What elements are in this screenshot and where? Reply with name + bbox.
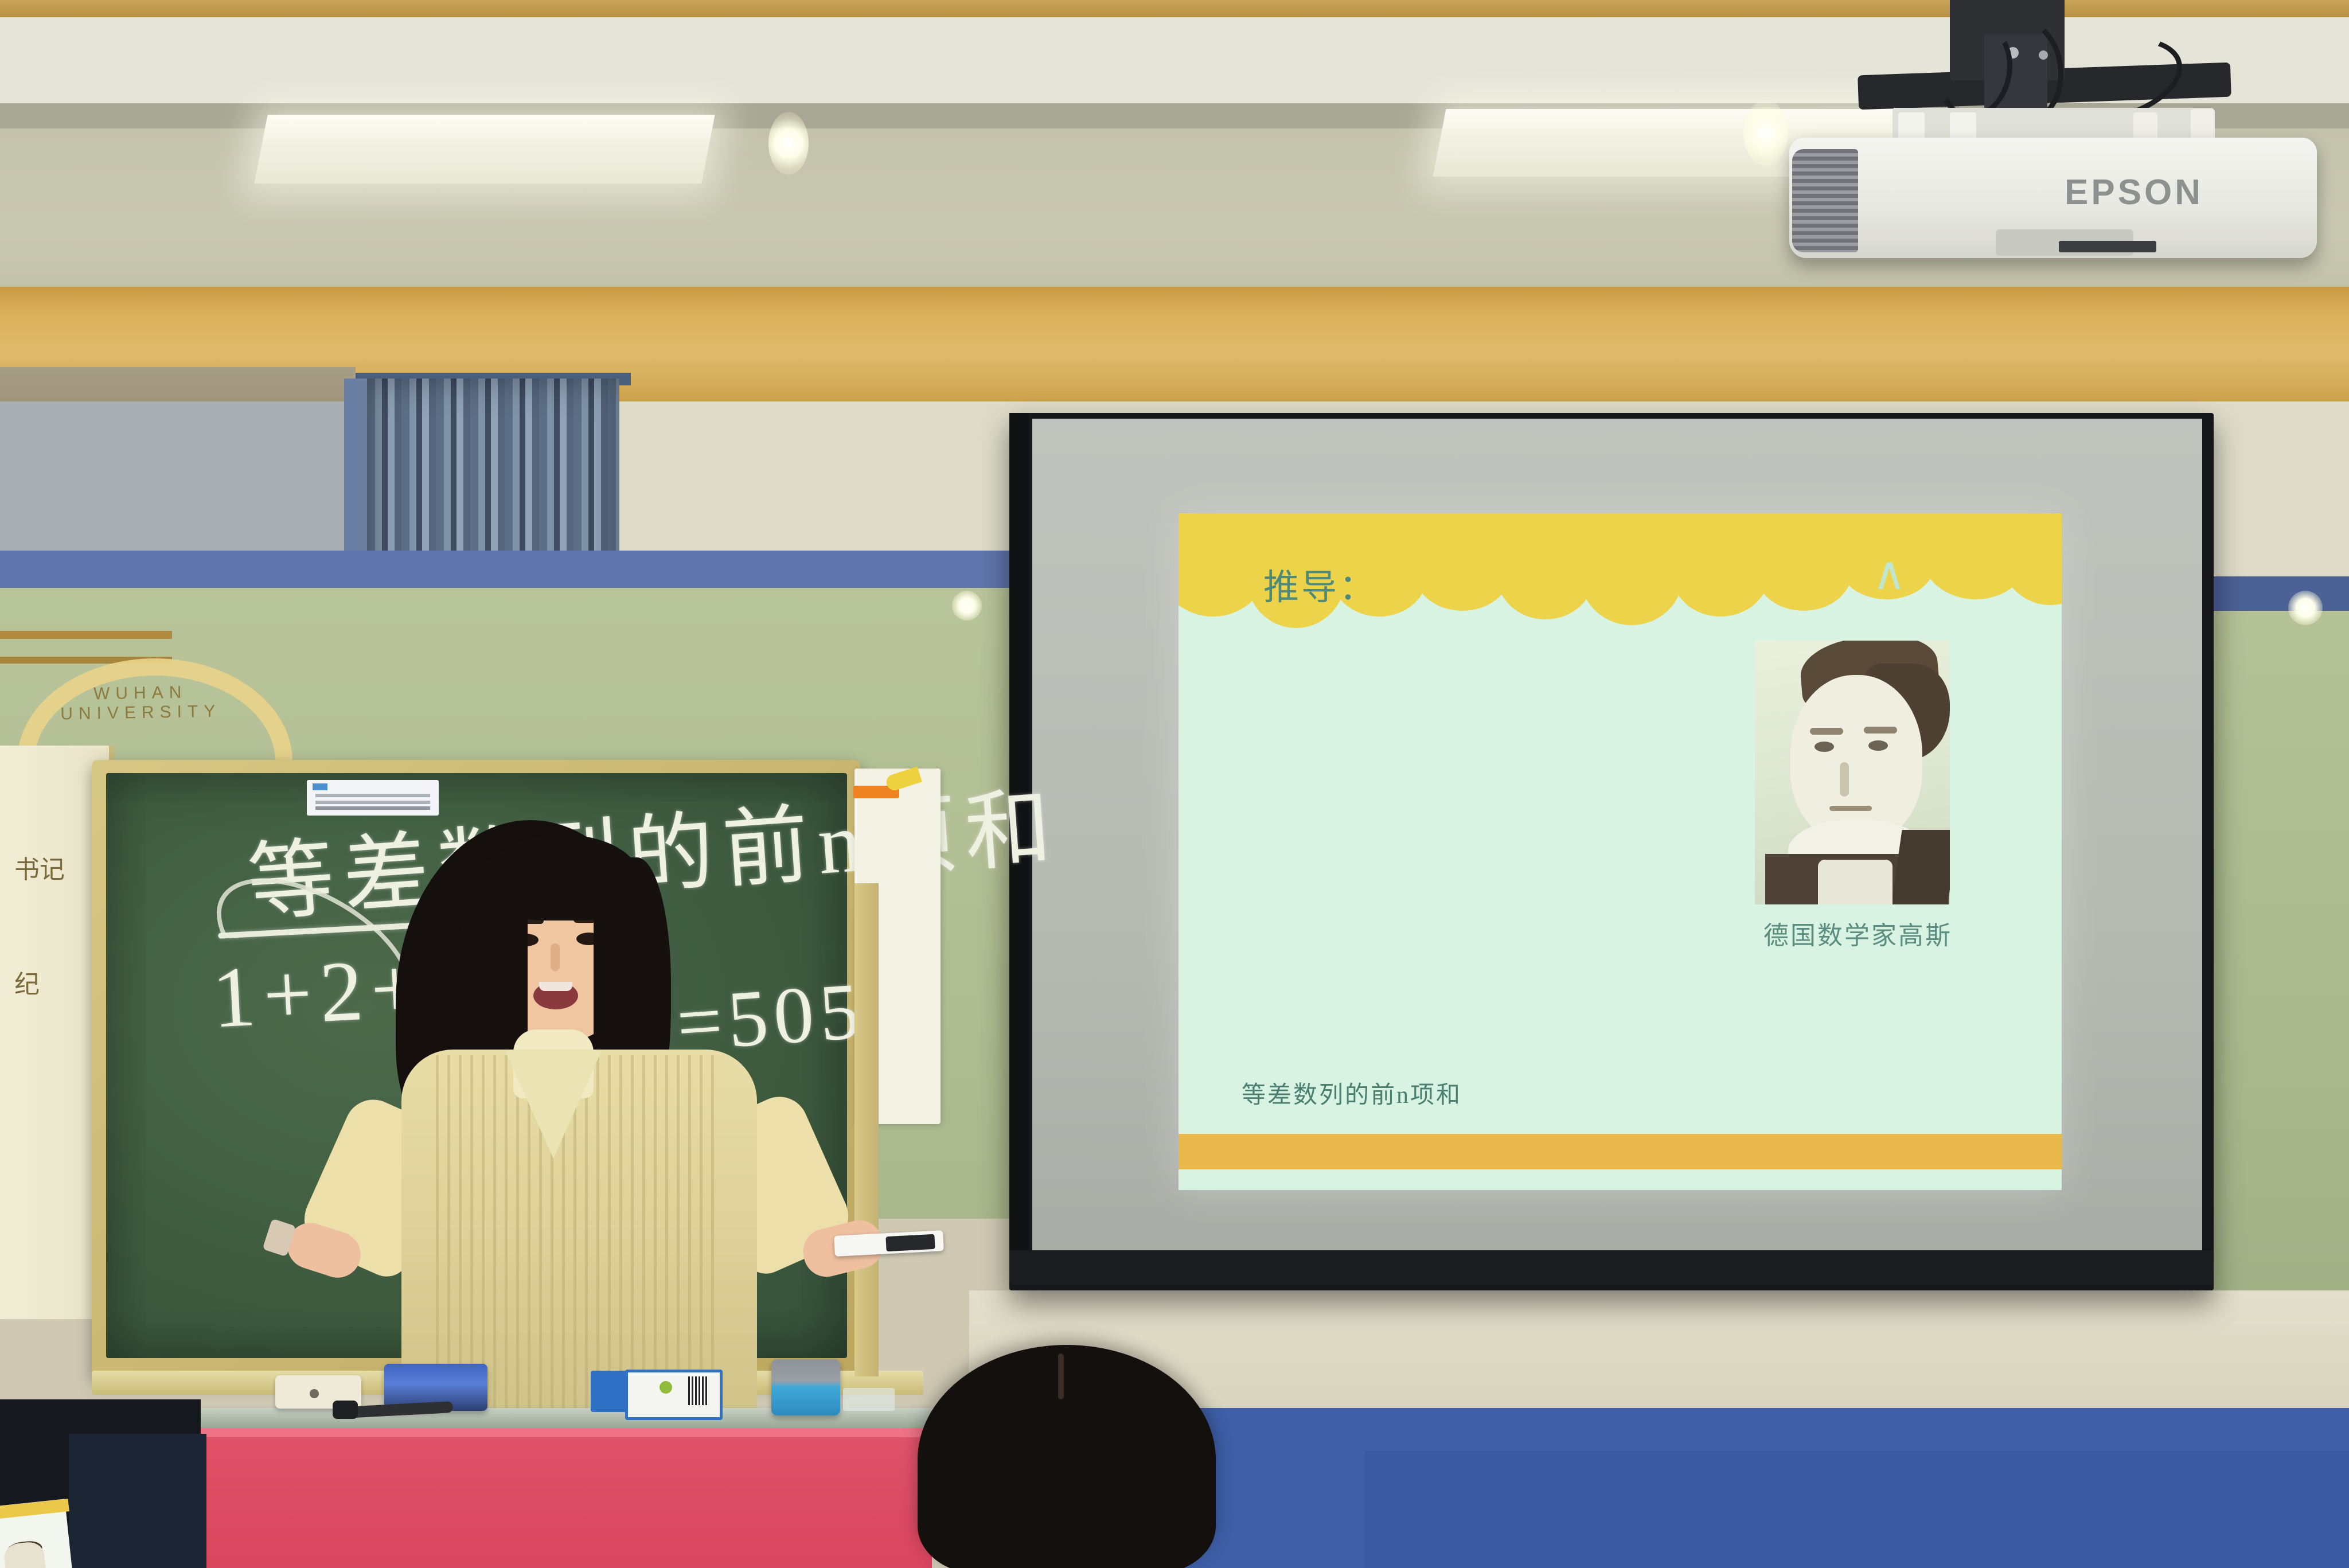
gauss-face	[1790, 675, 1922, 841]
gauss-shirt	[1818, 860, 1893, 904]
student-head-foreground	[918, 1345, 1216, 1568]
panel-support-leg	[854, 883, 879, 1376]
slide-scallop	[1999, 513, 2062, 605]
classroom-scene: EPSON WUHAN UNIVERSITY 书记 纪	[0, 0, 2349, 1568]
teacher-teeth	[539, 982, 572, 991]
marker-cap[interactable]	[333, 1401, 358, 1419]
sticker-logo-icon	[313, 783, 327, 790]
gauss-eye	[1815, 742, 1834, 752]
presentation-slide: 推导： ∧ 德国数学家高斯 等差数列的前n项和	[1179, 513, 2062, 1190]
projector-vent-icon	[1792, 149, 1858, 252]
slide-scallop	[1580, 525, 1683, 625]
slide-footer-text: 等差数列的前n项和	[1242, 1075, 1462, 1110]
student-hair-part	[1058, 1354, 1064, 1399]
ceiling-light-panel-left	[254, 115, 715, 184]
right-wall-blue-base-lower	[1365, 1451, 2349, 1568]
slide-heading: 推导：	[1263, 558, 1377, 610]
slide-scallop	[1755, 531, 1852, 611]
side-whiteboard-note-2: 纪	[14, 964, 40, 1000]
gauss-brow	[1810, 728, 1843, 735]
package-sticker-icon	[660, 1381, 672, 1394]
gauss-nose	[1840, 762, 1849, 797]
side-whiteboard-note-1: 书记	[14, 849, 65, 886]
projector-port-slot	[2059, 241, 2156, 252]
gauss-brow	[1864, 727, 1897, 734]
sticker-text-lines	[315, 794, 430, 797]
projector-top-panel	[1893, 108, 2214, 142]
chalk-box-hole-icon	[310, 1389, 319, 1398]
desk-item-chalk-package-boxed[interactable]	[625, 1370, 723, 1420]
gauss-eye	[1868, 740, 1888, 751]
foreground-shadow-lower	[69, 1434, 206, 1568]
wall-rail	[0, 631, 172, 639]
wall-light-reflection	[2288, 591, 2323, 625]
ceiling-spotlight-left	[768, 112, 809, 175]
teacher-nose	[551, 943, 560, 971]
teacher-sweater-ribbing	[436, 1055, 723, 1411]
ceiling-spotlight-right	[1743, 100, 1788, 166]
slide-glyph-icon: ∧	[1872, 547, 1906, 600]
university-seal-text: WUHAN UNIVERSITY	[34, 682, 247, 724]
teacher-desk-front	[198, 1428, 932, 1568]
gauss-portrait-image	[1755, 641, 1950, 904]
gauss-mouth	[1829, 806, 1872, 811]
package-barcode-icon	[688, 1376, 708, 1405]
projection-screen-bottom-bar	[1009, 1250, 2214, 1285]
desk-item-blackboard-eraser-grey-blue[interactable]	[771, 1359, 840, 1415]
left-wall-blue-band	[0, 551, 1032, 591]
desk-item-glass-object[interactable]	[843, 1388, 895, 1411]
wall-light-reflection	[952, 591, 982, 621]
projector-brand-label: EPSON	[2065, 172, 2248, 213]
slide-bottom-band	[1179, 1134, 2062, 1169]
slide-portrait-caption: 德国数学家高斯	[1763, 915, 1952, 951]
teacher-desk-edge	[198, 1428, 932, 1437]
clicker-button-panel[interactable]	[885, 1234, 935, 1251]
projector-foot	[2191, 109, 2215, 141]
